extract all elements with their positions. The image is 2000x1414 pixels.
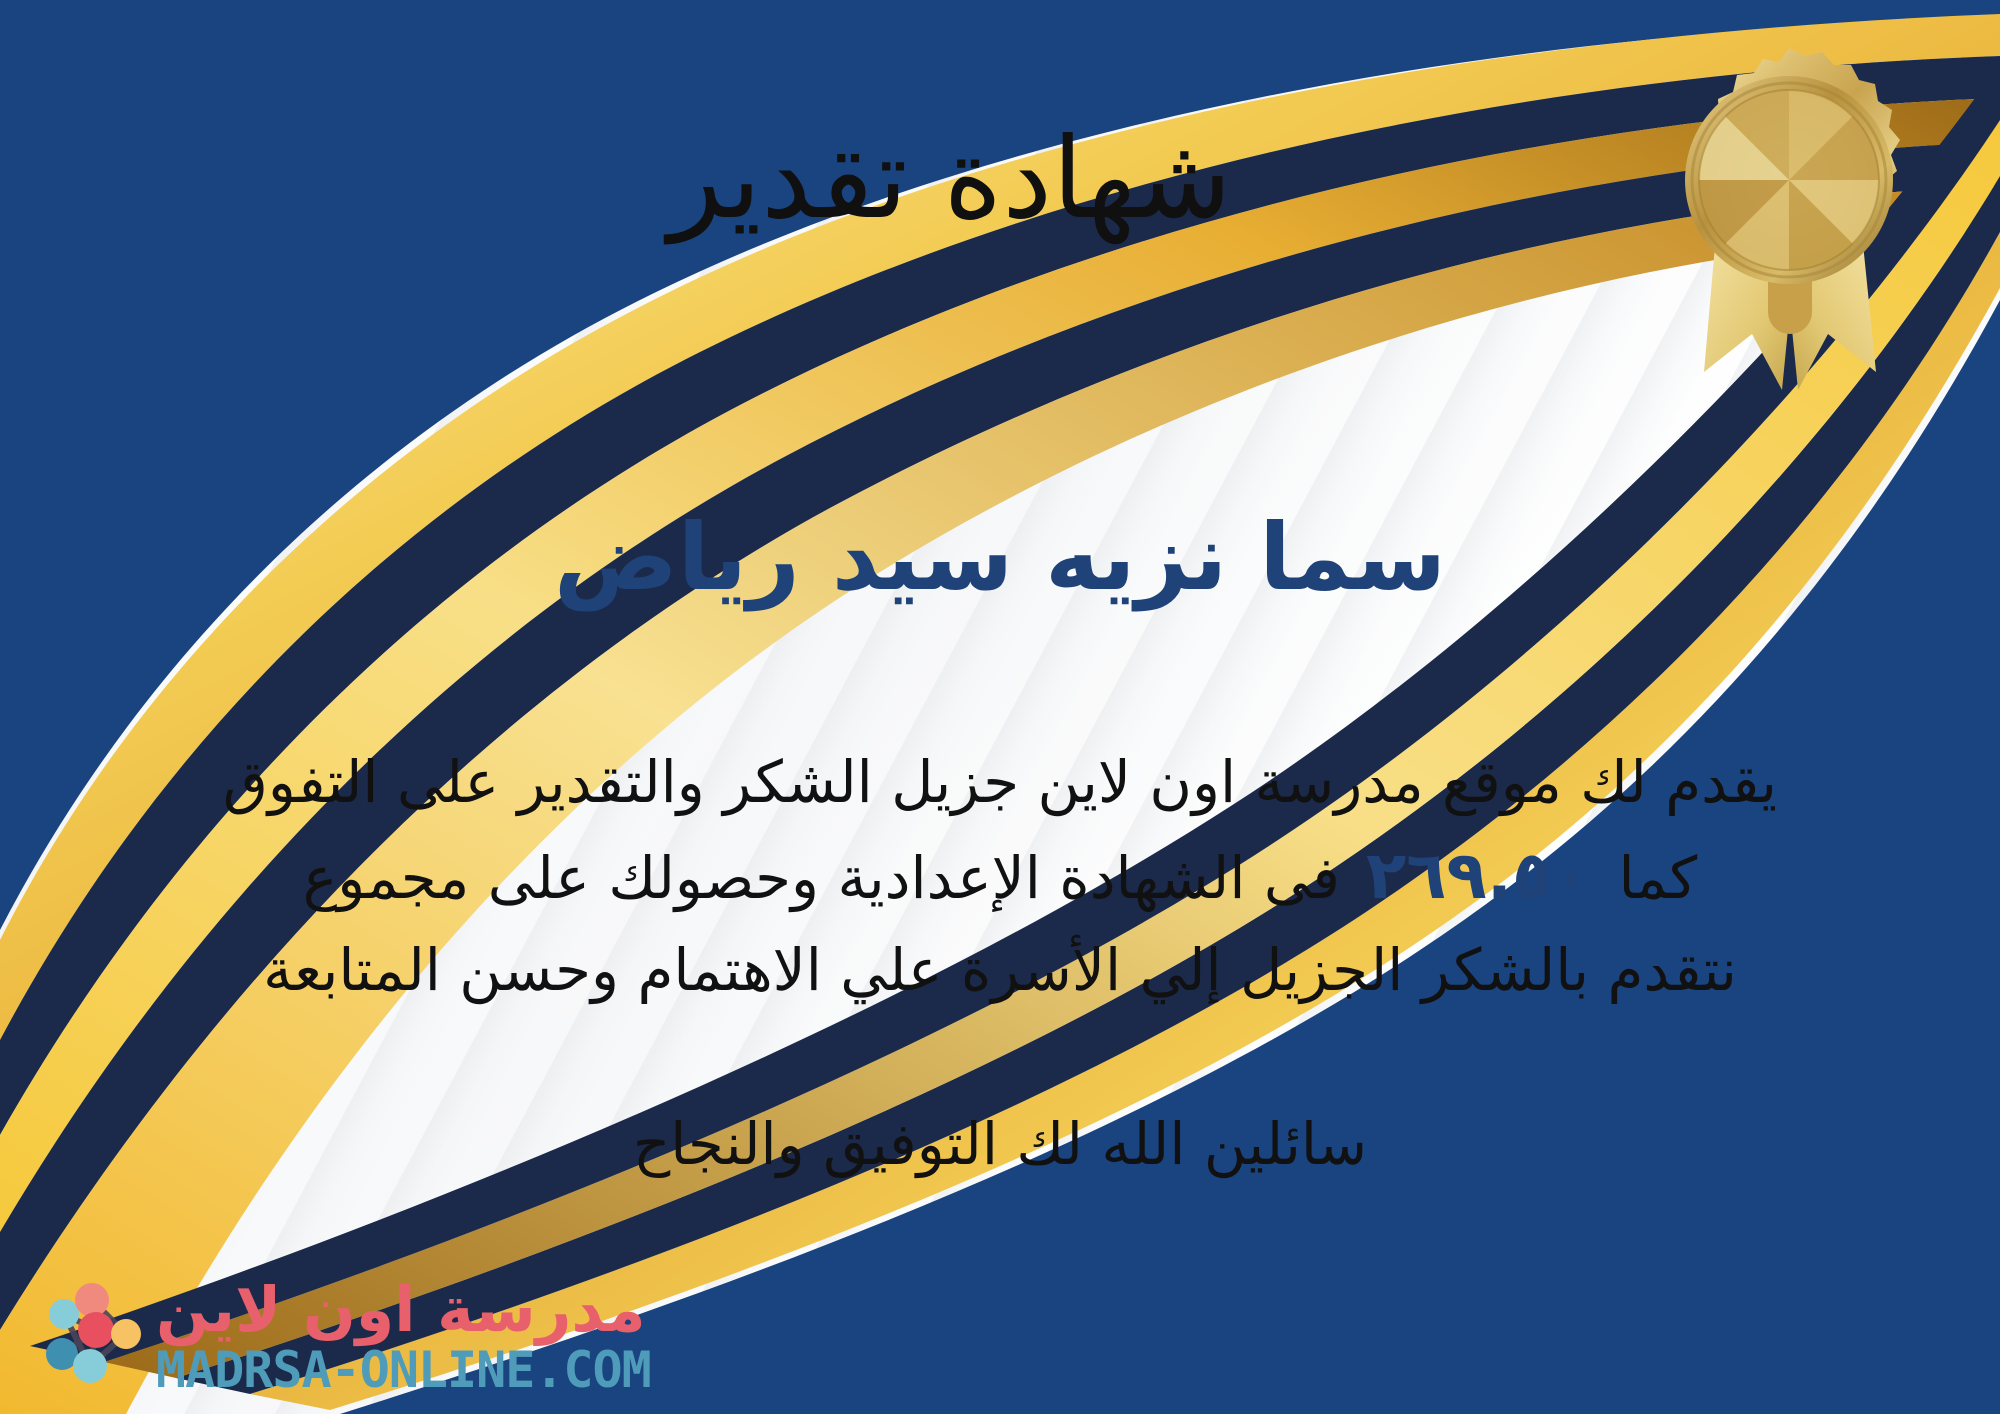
total-score: ٢٦٩.٥٠ [1340,826,1619,926]
brand-text: مدرسة اون لاين MADRSA-ONLINE.COM [156,1279,651,1395]
certificate-page: شهادة تقدير سما نزيه سيد رياض يقدم لك مو… [0,0,2000,1414]
recipient-name: سما نزيه سيد رياض [0,505,2000,611]
brand-url[interactable]: MADRSA-ONLINE.COM [156,1345,651,1395]
closing-line: سائلين الله لك التوفيق والنجاح [0,1104,2000,1185]
brand-logo[interactable]: مدرسة اون لاين MADRSA-ONLINE.COM [30,1278,651,1396]
network-nodes-icon [30,1278,148,1396]
certificate-content: شهادة تقدير سما نزيه سيد رياض يقدم لك مو… [0,0,2000,1414]
body-line-2-suffix: كما [1618,844,1697,912]
brand-arabic-name: مدرسة اون لاين [156,1279,646,1341]
body-line-2: كما٢٦٩.٥٠فى الشهادة الإعدادية وحصولك على… [55,826,1945,926]
body-line-2-prefix: فى الشهادة الإعدادية وحصولك على مجموع [303,844,1340,912]
body-line-1: يقدم لك موقع مدرسة اون لاين جزيل الشكر و… [55,738,1945,826]
body-line-3: نتقدم بالشكر الجزيل إلي الأسرة علي الاهت… [55,926,1945,1014]
certificate-body: يقدم لك موقع مدرسة اون لاين جزيل الشكر و… [55,738,1945,1015]
certificate-title: شهادة تقدير [0,118,2000,241]
